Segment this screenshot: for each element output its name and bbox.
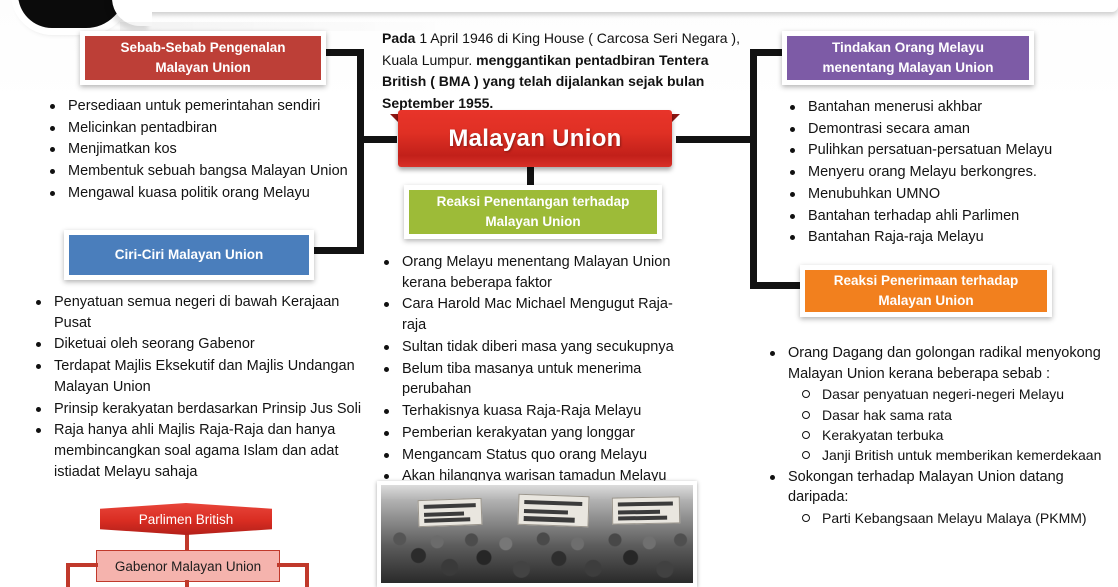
- header-box-reaksi-penentangan[interactable]: Reaksi Penentangan terhadap Malayan Unio…: [404, 185, 662, 239]
- flow-connector-left-arm: [66, 563, 98, 567]
- list-item-text: Orang Dagang dan golongan radikal menyok…: [788, 345, 1101, 382]
- protest-sign-1: [418, 498, 483, 528]
- list-item: Melicinkan pentadbiran: [38, 118, 368, 139]
- list-sebab-sebab: Persediaan untuk pemerintahan sendiriMel…: [38, 96, 368, 205]
- sub-list-item: Dasar penyatuan negeri-negeri Melayu: [788, 384, 1108, 404]
- list-item: Terdapat Majlis Eksekutif dan Majlis Und…: [24, 356, 374, 397]
- central-title-text: Malayan Union: [448, 125, 621, 153]
- sign-text-line: [425, 517, 471, 523]
- list-item: Menyeru orang Melayu berkongres.: [778, 162, 1078, 183]
- sub-list: Dasar penyatuan negeri-negeri MelayuDasa…: [788, 384, 1108, 465]
- box-penentangan-line2: Malayan Union: [485, 212, 580, 232]
- list-item: Orang Dagang dan golongan radikal menyok…: [758, 343, 1108, 466]
- sub-list-item: Parti Kebangsaan Melayu Malaya (PKMM): [788, 508, 1108, 528]
- list-item: Cara Harold Mac Michael Mengugut Raja-ra…: [372, 294, 682, 335]
- list-item: Bantahan Raja-raja Melayu: [778, 227, 1078, 248]
- flow-gabenor-label: Gabenor Malayan Union: [115, 559, 261, 574]
- intro-lead: Pada: [382, 30, 415, 46]
- poster-canvas: Sebab-Sebab Pengenalan Malayan Union Cir…: [0, 0, 1118, 587]
- flow-connector-center-drop: [185, 580, 189, 587]
- flow-connector-vertical-top: [185, 534, 189, 551]
- flow-connector-right-drop: [305, 563, 309, 587]
- sub-list: Parti Kebangsaan Melayu Malaya (PKMM): [788, 508, 1108, 528]
- sign-text-line: [618, 501, 673, 506]
- box-sebab-line1: Sebab-Sebab Pengenalan: [120, 38, 285, 58]
- list-tindakan: Bantahan menerusi akhbarDemontrasi secar…: [778, 97, 1078, 249]
- connector-right-vertical: [750, 49, 757, 289]
- list-ciri-ciri: Penyatuan semua negeri di bawah Kerajaan…: [24, 292, 374, 484]
- sign-text-line: [525, 508, 569, 514]
- protest-crowd-image: [381, 485, 693, 583]
- sub-list-item: Kerakyatan terbuka: [788, 425, 1108, 445]
- header-box-reaksi-penerimaan[interactable]: Reaksi Penerimaan terhadap Malayan Union: [800, 265, 1052, 317]
- list-item: Menjimatkan kos: [38, 139, 368, 160]
- list-item: Demontrasi secara aman: [778, 119, 1078, 140]
- box-penerimaan-line1: Reaksi Penerimaan terhadap: [834, 271, 1019, 291]
- sub-list-item: Janji British untuk memberikan kemerdeka…: [788, 445, 1108, 465]
- list-item: Terhakisnya kuasa Raja-Raja Melayu: [372, 401, 682, 422]
- intro-paragraph: Pada 1 April 1946 di King House ( Carcos…: [382, 28, 742, 115]
- list-item: Pemberian kerakyatan yang longgar: [372, 423, 682, 444]
- list-item: Mengawal kuasa politik orang Melayu: [38, 183, 368, 204]
- protest-sign-2: [518, 494, 590, 528]
- list-item: Orang Melayu menentang Malayan Union ker…: [372, 252, 682, 293]
- list-item: Raja hanya ahli Majlis Raja-Raja dan han…: [24, 420, 374, 482]
- sign-text-line: [525, 499, 583, 506]
- list-item: Sultan tidak diberi masa yang secukupnya: [372, 337, 682, 358]
- list-item: Pulihkan persatuan-persatuan Melayu: [778, 140, 1078, 161]
- list-item: Penyatuan semua negeri di bawah Kerajaan…: [24, 292, 374, 333]
- connector-left-bottom-horizontal: [310, 247, 364, 254]
- header-box-sebab-sebab-pengenalan[interactable]: Sebab-Sebab Pengenalan Malayan Union: [80, 31, 326, 85]
- list-item: Membentuk sebuah bangsa Malayan Union: [38, 161, 368, 182]
- list-item: Menubuhkan UMNO: [778, 184, 1078, 205]
- sign-text-line: [424, 503, 477, 509]
- central-title-ribbon[interactable]: Malayan Union: [390, 110, 680, 167]
- sign-text-line: [424, 511, 464, 516]
- protest-sign-3: [612, 496, 680, 525]
- list-item: Prinsip kerakyatan berdasarkan Prinsip J…: [24, 399, 374, 420]
- ribbon-body: Malayan Union: [398, 110, 672, 167]
- list-item: Belum tiba masanya untuk menerima peruba…: [372, 359, 682, 400]
- list-item: Diketuai oleh seorang Gabenor: [24, 334, 374, 355]
- list-item: Mengancam Status quo orang Melayu: [372, 445, 682, 466]
- list-penentangan: Orang Melayu menentang Malayan Union ker…: [372, 252, 682, 488]
- list-item-text: Sokongan terhadap Malayan Union datang d…: [788, 469, 1064, 506]
- box-tindakan-line1: Tindakan Orang Melayu: [832, 38, 984, 58]
- box-ciri-line1: Ciri-Ciri Malayan Union: [115, 245, 264, 265]
- flow-connector-left-drop: [66, 563, 70, 587]
- list-item: Sokongan terhadap Malayan Union datang d…: [758, 467, 1108, 529]
- flow-node-gabenor-malayan-union[interactable]: Gabenor Malayan Union: [96, 550, 280, 582]
- list-item: Bantahan menerusi akhbar: [778, 97, 1078, 118]
- box-sebab-line2: Malayan Union: [155, 58, 250, 78]
- header-box-ciri-ciri-malayan-union[interactable]: Ciri-Ciri Malayan Union: [64, 230, 314, 280]
- box-tindakan-line2: menentang Malayan Union: [822, 58, 993, 78]
- list-item: Bantahan terhadap ahli Parlimen: [778, 206, 1078, 227]
- torn-paper-top-banner: [96, 0, 1118, 12]
- connector-center-to-right: [676, 136, 756, 143]
- black-ink-blob-icon: [18, 0, 126, 28]
- connector-center-to-green: [527, 165, 534, 187]
- sign-text-line: [618, 516, 667, 521]
- list-penerimaan: Orang Dagang dan golongan radikal menyok…: [758, 343, 1108, 529]
- header-box-tindakan-orang-melayu[interactable]: Tindakan Orang Melayu menentang Malayan …: [782, 31, 1034, 85]
- flow-node-parlimen-british[interactable]: Parlimen British: [100, 503, 272, 535]
- sign-text-line: [524, 516, 575, 522]
- box-penerimaan-line2: Malayan Union: [878, 291, 973, 311]
- box-penentangan-line1: Reaksi Penentangan terhadap: [437, 192, 630, 212]
- flow-parlimen-label: Parlimen British: [139, 512, 234, 527]
- list-item: Persediaan untuk pemerintahan sendiri: [38, 96, 368, 117]
- sign-text-line: [618, 509, 660, 514]
- protest-photo-frame: [377, 481, 697, 587]
- sub-list-item: Dasar hak sama rata: [788, 405, 1108, 425]
